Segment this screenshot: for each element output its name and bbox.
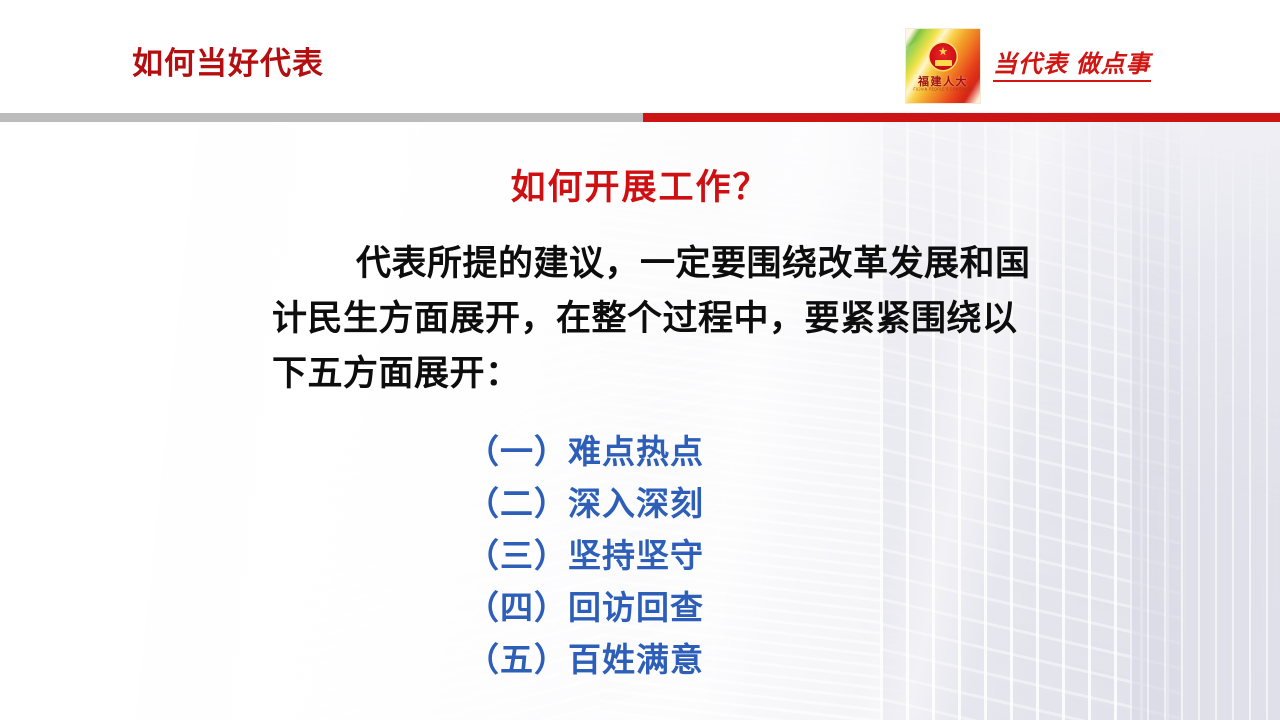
fujian-peoples-congress-logo: 福建人大 FUJIAN PEOPLE'S CONGRESS — [905, 28, 981, 104]
list-item: （三）坚持坚守 — [466, 530, 704, 582]
logo-english-text: FUJIAN PEOPLE'S CONGRESS — [906, 87, 980, 92]
list-item: （二）深入深刻 — [466, 478, 704, 530]
numbered-item-list: （一）难点热点 （二）深入深刻 （三）坚持坚守 （四）回访回查 （五）百姓满意 — [466, 426, 704, 686]
body-paragraph: 代表所提的建议，一定要围绕改革发展和国 计民生方面展开，在整个过程中，要紧紧围绕… — [272, 236, 1092, 401]
divider-grey-segment — [0, 113, 643, 122]
slide-header: 如何当好代表 福建人大 FUJIAN PEOPLE'S CONGRESS 当代表… — [0, 0, 1280, 112]
paragraph-line: 下五方面展开： — [272, 346, 1092, 401]
main-heading: 如何开展工作？ — [0, 170, 1280, 205]
divider-red-segment — [643, 113, 1280, 122]
slide-canvas: 如何当好代表 福建人大 FUJIAN PEOPLE'S CONGRESS 当代表… — [0, 0, 1280, 720]
header-divider — [0, 113, 1280, 122]
national-emblem-icon — [930, 43, 957, 70]
list-item: （四）回访回查 — [466, 582, 704, 634]
slide-content: 如何开展工作？ 代表所提的建议，一定要围绕改革发展和国 计民生方面展开，在整个过… — [0, 122, 1280, 720]
list-item: （一）难点热点 — [466, 426, 704, 478]
paragraph-line: 计民生方面展开，在整个过程中，要紧紧围绕以 — [272, 291, 1092, 346]
paragraph-line: 代表所提的建议，一定要围绕改革发展和国 — [272, 236, 1092, 291]
header-tagline: 当代表 做点事 — [993, 53, 1151, 82]
page-title: 如何当好代表 — [132, 48, 324, 79]
list-item: （五）百姓满意 — [466, 634, 704, 686]
